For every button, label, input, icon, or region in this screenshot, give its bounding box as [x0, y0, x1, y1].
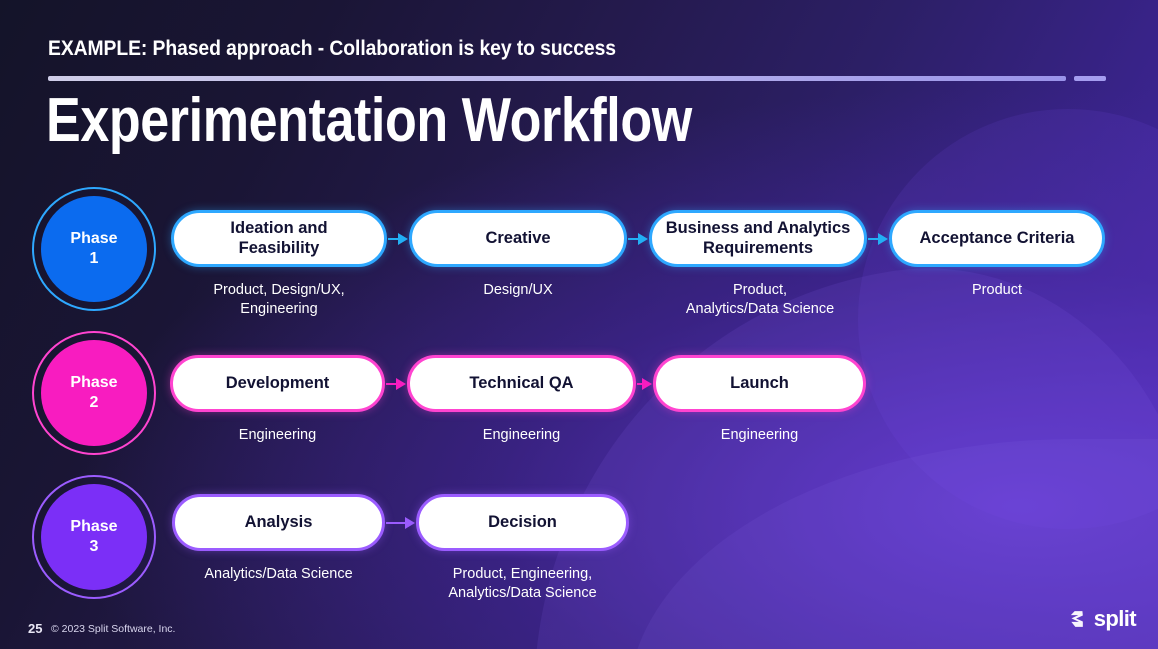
workflow-step-1-3[interactable]: Business and Analytics Requirements — [649, 210, 867, 267]
workflow-step-label: Ideation and Feasibility — [230, 219, 327, 259]
header-divider-dash — [1074, 76, 1106, 81]
workflow-step-2-3[interactable]: Launch — [653, 355, 866, 412]
workflow-step-label: Development — [226, 374, 330, 394]
workflow-step-label: Business and Analytics Requirements — [666, 219, 851, 259]
arrow-head — [642, 378, 652, 390]
workflow-step-caption-1-4: Product — [889, 281, 1105, 300]
copyright-text: © 2023 Split Software, Inc. — [51, 623, 175, 635]
phase-badge-label: Phase — [70, 517, 117, 537]
workflow-step-label: Analysis — [245, 513, 313, 533]
workflow-step-1-1[interactable]: Ideation and Feasibility — [171, 210, 387, 267]
split-logo: split — [1067, 606, 1136, 632]
workflow-step-1-4[interactable]: Acceptance Criteria — [889, 210, 1105, 267]
header-divider-bar — [48, 76, 1066, 81]
decorative-circle-glow — [858, 109, 1158, 529]
workflow-step-3-1[interactable]: Analysis — [172, 494, 385, 551]
workflow-arrow-1-3 — [868, 233, 888, 245]
workflow-step-caption-1-3: Product, Analytics/Data Science — [649, 281, 871, 319]
header-divider — [48, 76, 1106, 81]
split-wordmark: split — [1094, 606, 1136, 632]
workflow-arrow-1-1 — [388, 233, 408, 245]
phase-badge-number: 2 — [90, 393, 99, 413]
arrow-head — [638, 233, 648, 245]
phase-badge-3[interactable]: Phase3 — [41, 484, 147, 590]
workflow-arrow-3-1 — [386, 517, 415, 529]
workflow-step-caption-2-1: Engineering — [170, 426, 385, 445]
workflow-step-label: Creative — [485, 229, 550, 249]
workflow-step-label: Acceptance Criteria — [920, 229, 1075, 249]
workflow-step-1-2[interactable]: Creative — [409, 210, 627, 267]
phase-badge-number: 1 — [90, 249, 99, 269]
phase-badge-1[interactable]: Phase1 — [41, 196, 147, 302]
arrow-head — [398, 233, 408, 245]
arrow-head — [396, 378, 406, 390]
slide-eyebrow: EXAMPLE: Phased approach - Collaboration… — [48, 36, 616, 61]
arrow-shaft — [386, 522, 406, 524]
workflow-arrow-1-2 — [628, 233, 648, 245]
workflow-step-3-2[interactable]: Decision — [416, 494, 629, 551]
split-s-icon — [1067, 609, 1087, 629]
workflow-step-2-2[interactable]: Technical QA — [407, 355, 636, 412]
phase-badge-number: 3 — [90, 537, 99, 557]
workflow-step-label: Decision — [488, 513, 557, 533]
workflow-step-caption-3-2: Product, Engineering, Analytics/Data Sci… — [406, 565, 639, 603]
phase-badge-label: Phase — [70, 373, 117, 393]
workflow-step-caption-1-1: Product, Design/UX, Engineering — [171, 281, 387, 319]
workflow-arrow-2-1 — [386, 378, 406, 390]
workflow-step-2-1[interactable]: Development — [170, 355, 385, 412]
page-number: 25 — [28, 621, 42, 636]
workflow-arrow-2-2 — [637, 378, 652, 390]
workflow-step-label: Launch — [730, 374, 789, 394]
workflow-step-caption-2-3: Engineering — [653, 426, 866, 445]
arrow-head — [878, 233, 888, 245]
workflow-step-caption-1-2: Design/UX — [409, 281, 627, 300]
page-title: Experimentation Workflow — [46, 90, 692, 152]
slide-canvas: EXAMPLE: Phased approach - Collaboration… — [0, 0, 1158, 649]
workflow-step-label: Technical QA — [469, 374, 573, 394]
workflow-step-caption-3-1: Analytics/Data Science — [162, 565, 395, 584]
arrow-head — [405, 517, 415, 529]
workflow-step-caption-2-2: Engineering — [407, 426, 636, 445]
phase-badge-label: Phase — [70, 229, 117, 249]
phase-badge-2[interactable]: Phase2 — [41, 340, 147, 446]
